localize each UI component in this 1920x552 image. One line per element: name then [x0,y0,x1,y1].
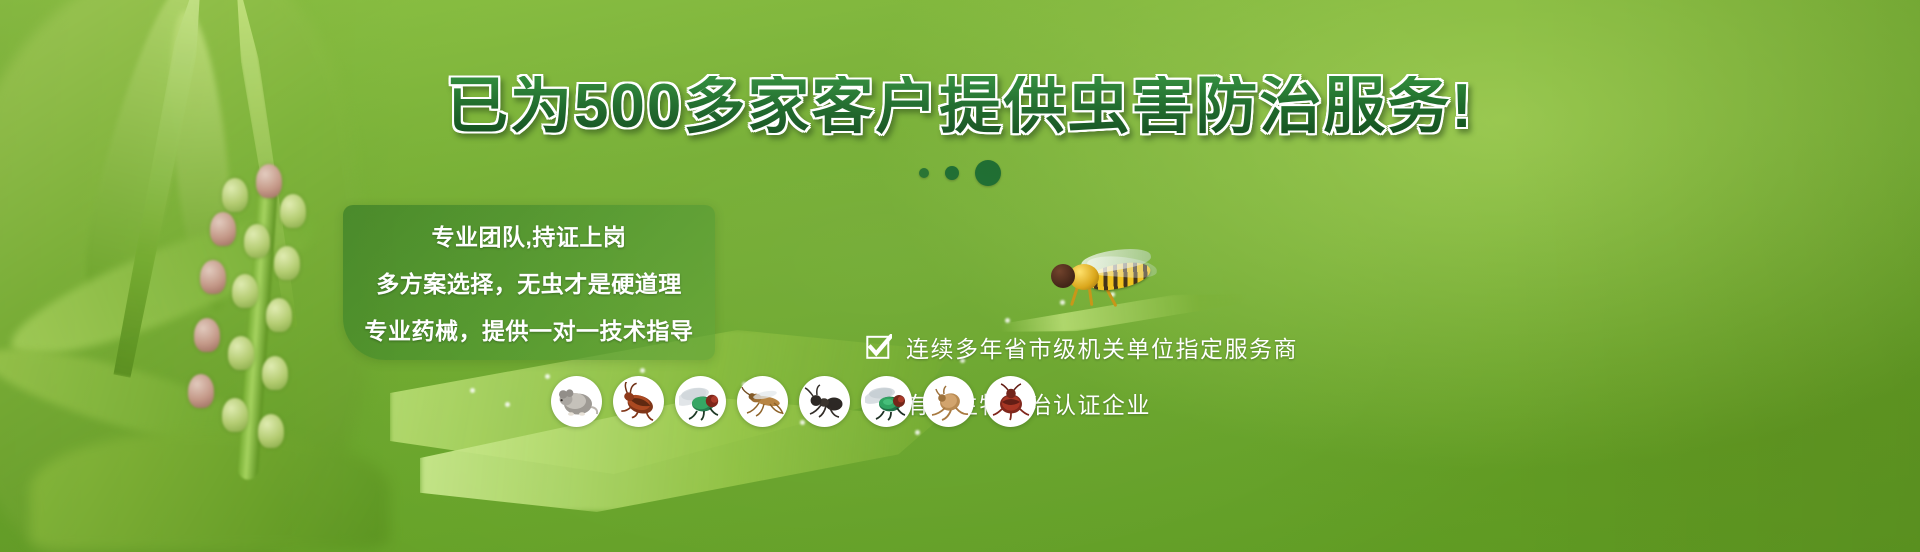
dot-medium [945,166,959,180]
feature-line-3: 专业药械，提供一对一技术指导 [365,312,694,346]
dot-large [975,160,1001,186]
hoverfly-icon [1045,248,1165,310]
pest-icon-row [551,376,1036,427]
mosquito-icon[interactable] [737,376,788,427]
credential-label: 连续多年省市级机关单位指定服务商 [906,330,1298,364]
feature-line-1: 专业团队,持证上岗 [432,218,627,252]
banner-headline: 已为500多家客户提供虫害防治服务! [0,76,1920,138]
checkbox-checked-icon [866,334,892,360]
bedbug-icon[interactable] [985,376,1036,427]
credential-item: 连续多年省市级机关单位指定服务商 [866,330,1298,364]
dot-small [919,168,929,178]
ant-icon[interactable] [799,376,850,427]
housefly-icon[interactable] [861,376,912,427]
feature-line-2: 多方案选择，无虫才是硬道理 [376,265,682,299]
feature-card: 专业团队,持证上岗 多方案选择，无虫才是硬道理 专业药械，提供一对一技术指导 [343,205,715,360]
flea-icon[interactable] [923,376,974,427]
headline-text: 已为500多家客户提供虫害防治服务! [446,76,1474,138]
green-bottle-fly-icon[interactable] [675,376,726,427]
mouse-icon[interactable] [551,376,602,427]
cockroach-icon[interactable] [613,376,664,427]
decorative-dots [0,160,1920,186]
promo-banner: 已为500多家客户提供虫害防治服务! 专业团队,持证上岗 多方案选择，无虫才是硬… [0,0,1920,552]
